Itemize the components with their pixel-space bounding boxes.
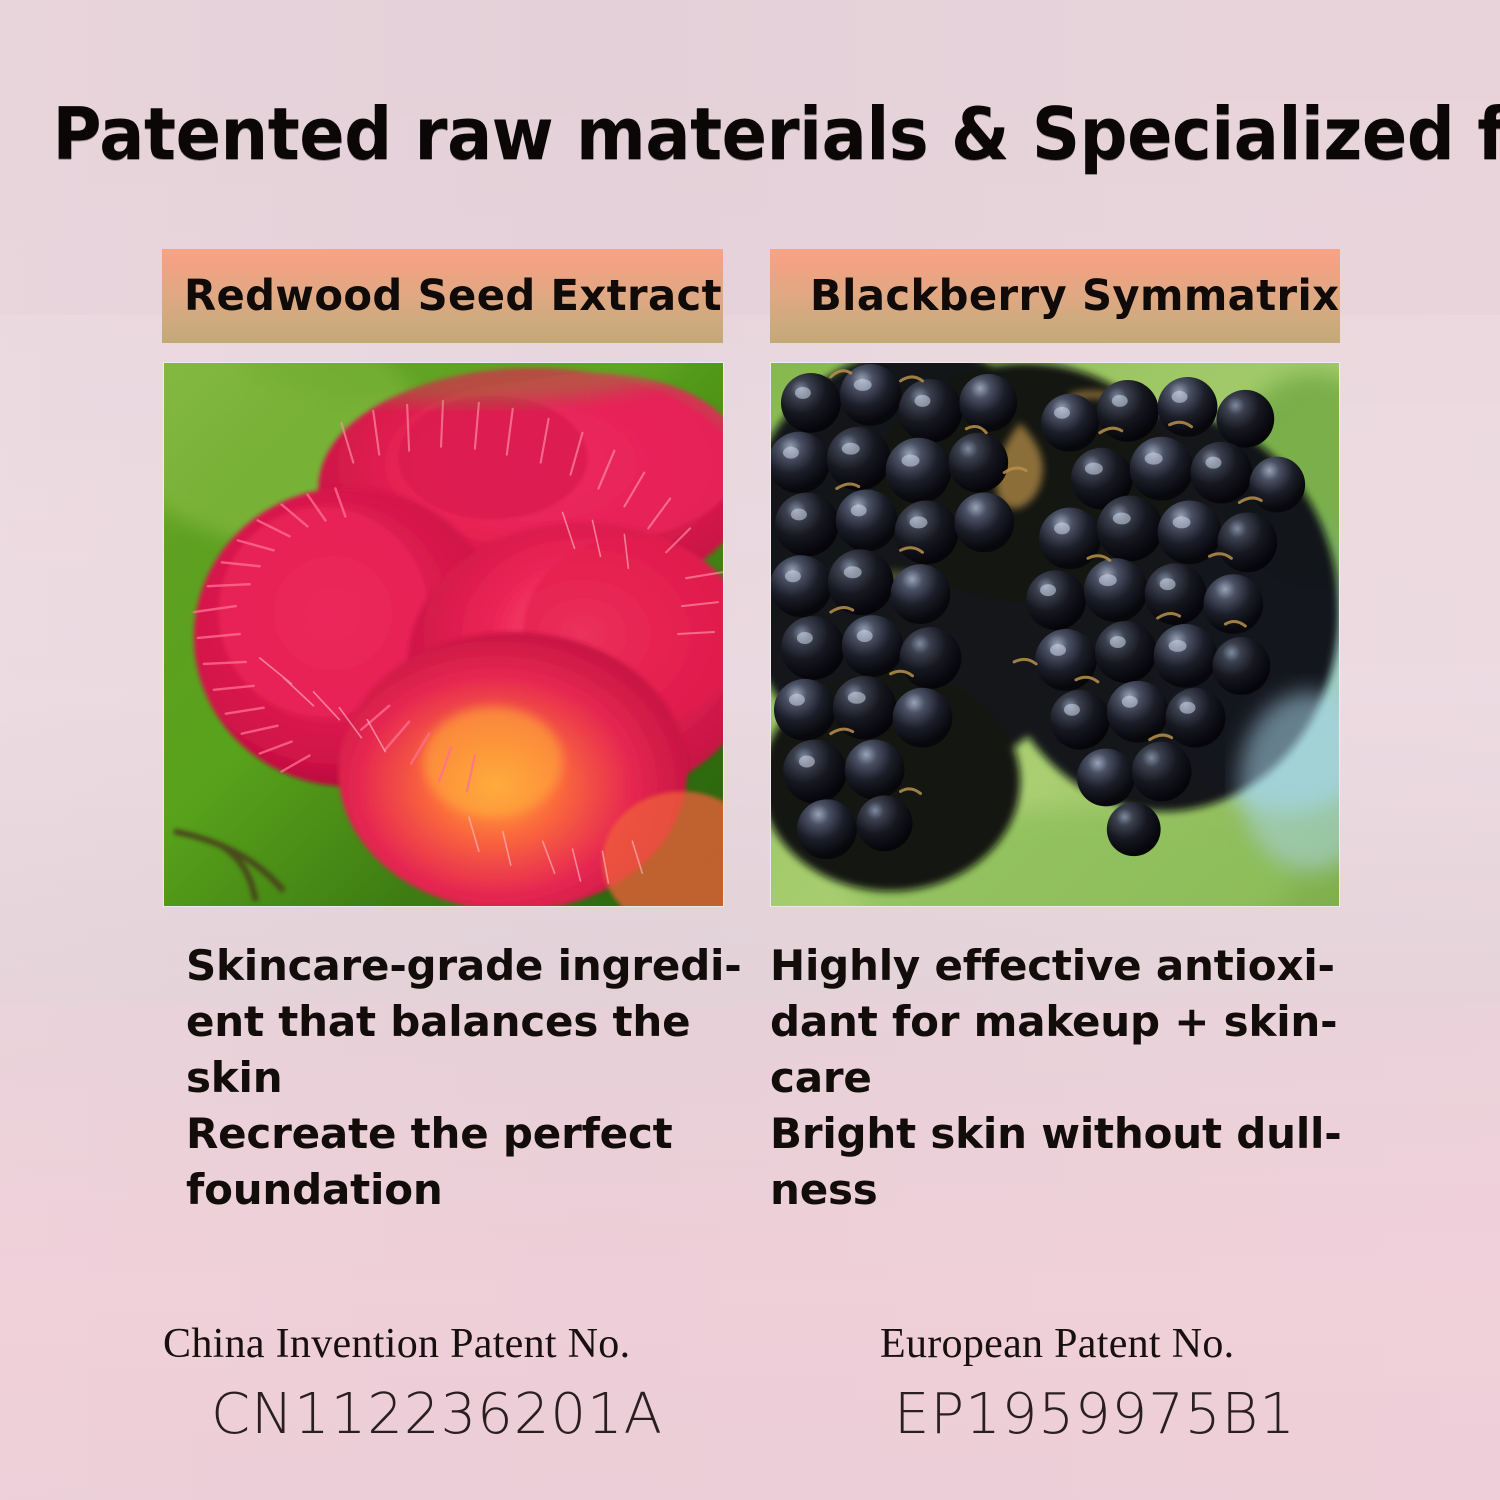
banner-label: Blackberry Symmatrix xyxy=(810,271,1339,321)
column-redwood-seed-extract: Redwood Seed Extract xyxy=(162,249,723,343)
red-seed-pod-illustration xyxy=(164,363,723,906)
photo-blackberry-symmatrix xyxy=(770,362,1340,907)
page-title: Patented raw materials & Specialized for… xyxy=(53,92,1448,176)
page-canvas: Patented raw materials & Specialized for… xyxy=(0,0,1500,1500)
patent-label: China Invention Patent No. xyxy=(163,1320,723,1368)
patent-number: CN112236201A xyxy=(211,1382,723,1447)
banner-redwood-seed-extract: Redwood Seed Extract xyxy=(162,249,723,343)
banner-blackberry-symmatrix: Blackberry Symmatrix xyxy=(770,249,1340,343)
banner-label: Redwood Seed Extract xyxy=(184,271,722,321)
patent-block-european: European Patent No. EP1959975B1 xyxy=(880,1320,1440,1447)
patent-number: EP1959975B1 xyxy=(894,1382,1440,1447)
body-copy-blackberry-symmatrix: Highly effective antioxi- dant for makeu… xyxy=(770,938,1360,1218)
photo-redwood-seed-extract xyxy=(163,362,724,907)
patent-label: European Patent No. xyxy=(880,1320,1440,1368)
patent-block-china: China Invention Patent No. CN112236201A xyxy=(163,1320,723,1447)
blackberry-illustration xyxy=(771,363,1339,906)
body-copy-redwood-seed-extract: Skincare-grade ingredi- ent that balance… xyxy=(186,938,746,1218)
column-blackberry-symmatrix: Blackberry Symmatrix xyxy=(770,249,1340,343)
